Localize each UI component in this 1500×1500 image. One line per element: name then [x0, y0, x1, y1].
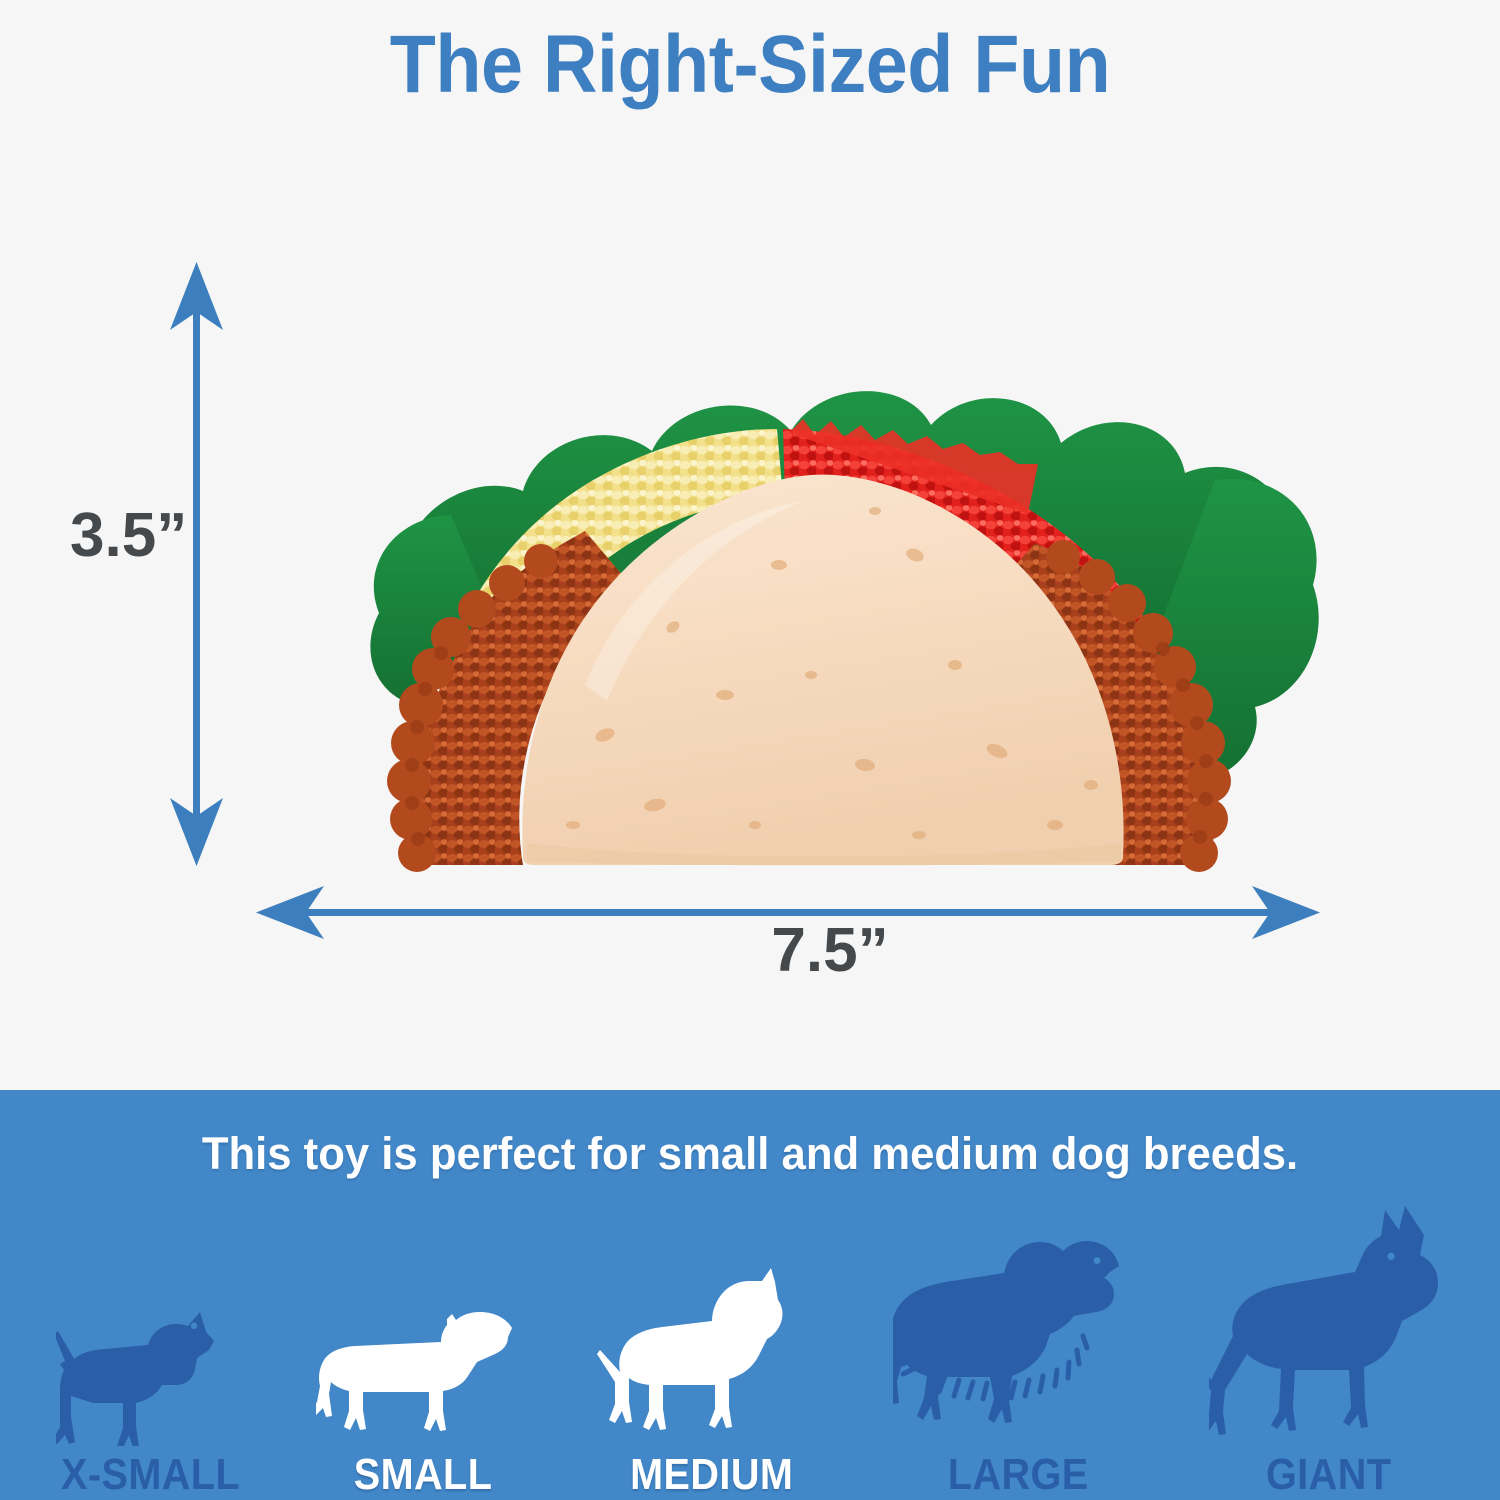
size-option-medium[interactable]: MEDIUM: [597, 1185, 827, 1500]
dog-bull-terrier-icon: [597, 1266, 827, 1446]
size-label-medium: MEDIUM: [630, 1450, 793, 1500]
height-dimension-label: 3.5”: [70, 500, 187, 571]
dog-chihuahua-icon: [56, 1296, 246, 1446]
dog-size-scale: X-SMALL SMALL MEDIUM: [0, 1185, 1500, 1500]
dog-great-dane-icon: [1209, 1196, 1449, 1446]
size-option-giant[interactable]: GIANT: [1209, 1185, 1449, 1500]
size-option-x-small[interactable]: X-SMALL: [51, 1185, 250, 1500]
width-dimension-label: 7.5”: [80, 915, 1500, 986]
product-hero: 3.5” 7.5”: [0, 0, 1500, 1090]
banner-headline: This toy is perfect for small and medium…: [23, 1128, 1478, 1180]
size-label-small: SMALL: [354, 1450, 493, 1500]
dog-golden-retriever-icon: [893, 1226, 1143, 1446]
infographic-page: The Right-Sized Fun: [0, 0, 1500, 1500]
dog-size-banner: This toy is perfect for small and medium…: [0, 1090, 1500, 1500]
size-label-giant: GIANT: [1266, 1450, 1391, 1500]
size-option-small[interactable]: SMALL: [316, 1185, 531, 1500]
dog-dachshund-icon: [316, 1296, 531, 1446]
size-label-large: LARGE: [948, 1450, 1089, 1500]
size-option-large[interactable]: LARGE: [893, 1185, 1143, 1500]
size-label-x-small: X-SMALL: [61, 1450, 240, 1500]
